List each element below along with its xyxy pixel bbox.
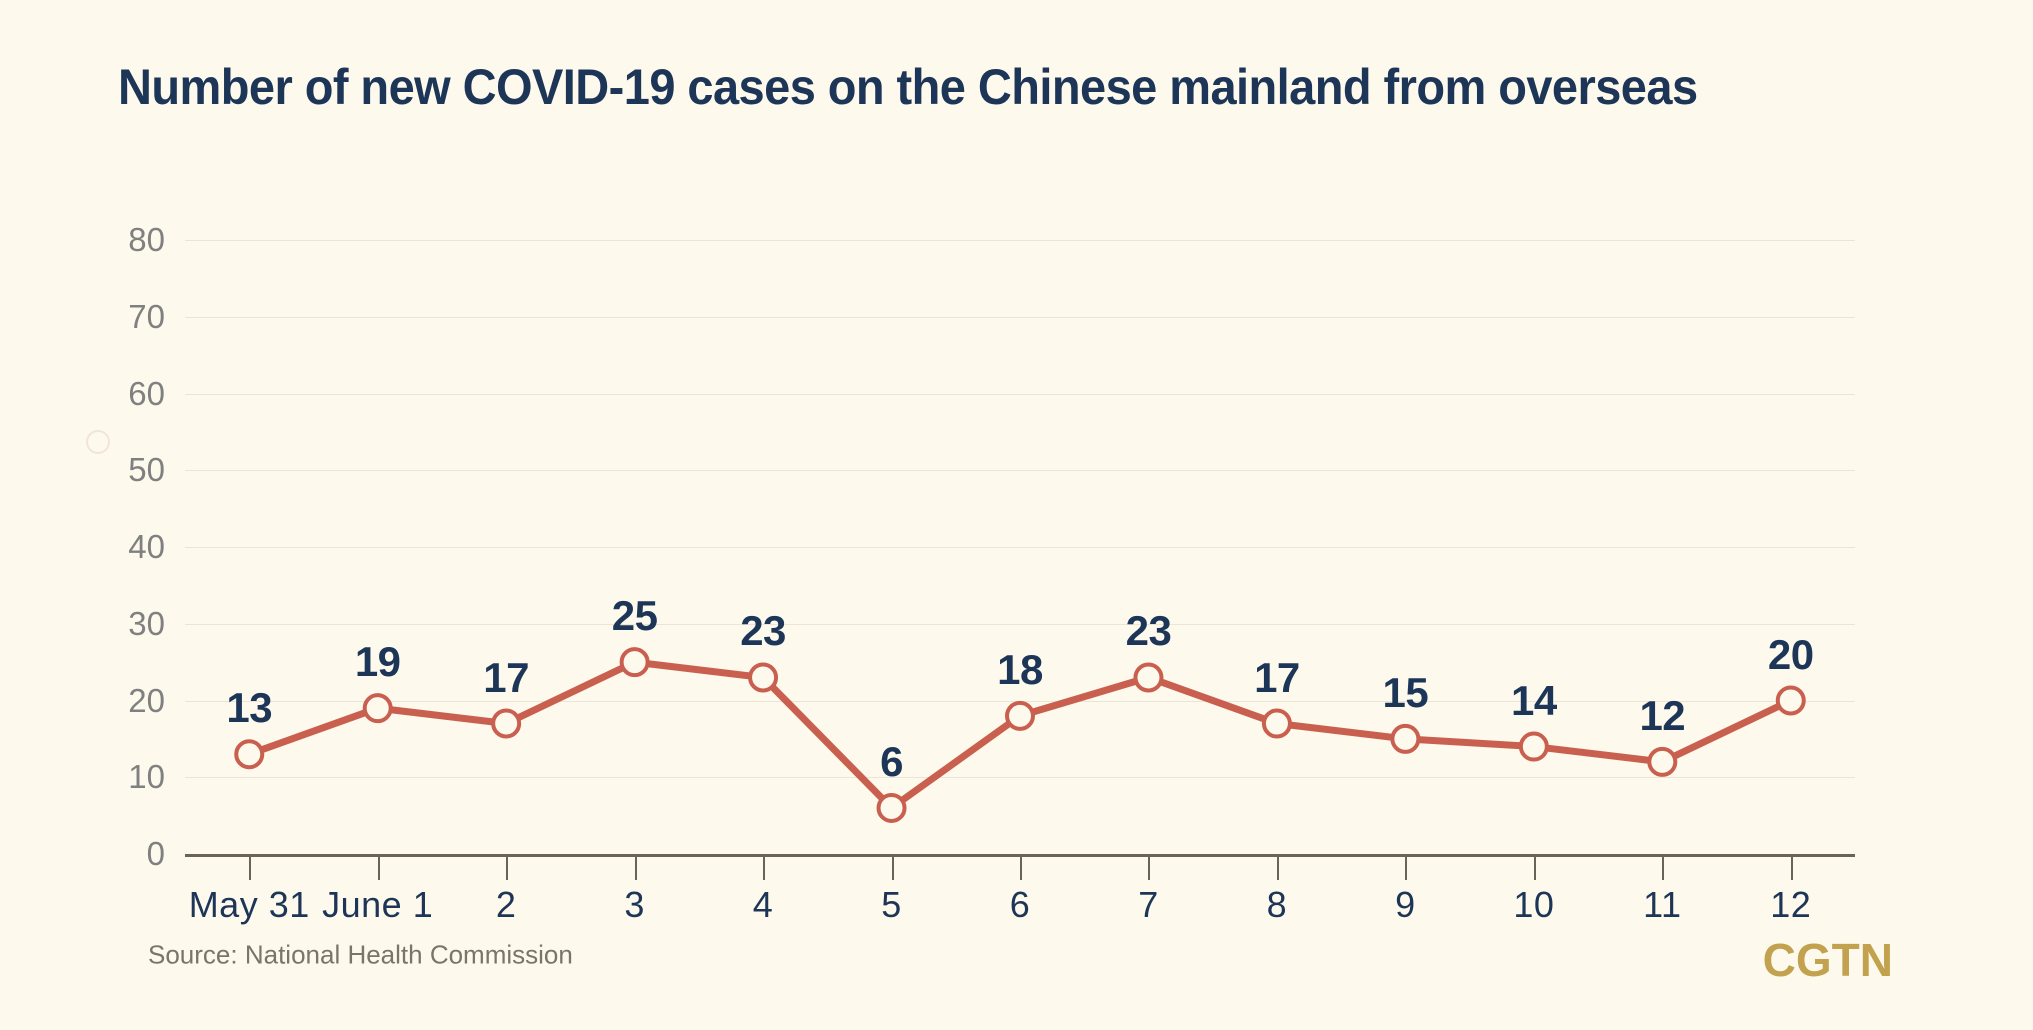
data-point-marker[interactable]: [1649, 749, 1675, 775]
y-axis-tick-label: 80: [128, 221, 165, 259]
x-axis-tick-label: 11: [1643, 884, 1681, 926]
x-axis-tick: [1277, 854, 1279, 880]
y-axis-tick-label: 40: [128, 528, 165, 566]
x-axis-tick-label: 5: [881, 884, 902, 926]
data-point-value-label: 15: [1383, 669, 1429, 717]
data-point-value-label: 20: [1768, 631, 1814, 679]
data-point-marker[interactable]: [365, 695, 391, 721]
x-axis-tick-label: 6: [1010, 884, 1031, 926]
y-axis-tick-label: 0: [147, 835, 165, 873]
data-point-value-label: 19: [355, 638, 401, 686]
x-axis-tick: [506, 854, 508, 880]
data-point-marker[interactable]: [1778, 688, 1804, 714]
cgtn-logo: CGTN: [1763, 933, 1893, 987]
x-axis-tick: [249, 854, 251, 880]
data-point-value-label: 23: [740, 607, 786, 655]
y-axis-tick-label: 70: [128, 298, 165, 336]
x-axis-tick: [1148, 854, 1150, 880]
data-point-value-label: 13: [226, 684, 272, 732]
data-point-value-label: 17: [483, 654, 529, 702]
x-axis-tick-label: June 1: [322, 884, 433, 926]
y-axis-tick-label: 30: [128, 605, 165, 643]
data-point-marker[interactable]: [493, 711, 519, 737]
x-axis-tick-label: 2: [496, 884, 517, 926]
x-axis-tick-label: 7: [1138, 884, 1159, 926]
data-point-marker[interactable]: [622, 649, 648, 675]
data-point-value-label: 25: [612, 592, 658, 640]
x-axis-tick-label: 12: [1770, 884, 1811, 926]
data-point-marker[interactable]: [1007, 703, 1033, 729]
data-point-marker[interactable]: [750, 664, 776, 690]
x-axis-tick-label: 3: [624, 884, 645, 926]
source-note: Source: National Health Commission: [148, 940, 573, 971]
x-axis-tick: [892, 854, 894, 880]
x-axis-tick-label: 10: [1513, 884, 1554, 926]
data-point-value-label: 12: [1639, 692, 1685, 740]
stray-circle-artifact: [86, 430, 110, 454]
x-axis-tick-label: 4: [753, 884, 774, 926]
data-point-marker[interactable]: [1264, 711, 1290, 737]
x-axis-tick: [1534, 854, 1536, 880]
data-point-marker[interactable]: [1392, 726, 1418, 752]
x-axis-tick: [1791, 854, 1793, 880]
data-point-marker[interactable]: [1521, 734, 1547, 760]
y-axis-tick-label: 50: [128, 451, 165, 489]
x-axis-tick-label: 8: [1267, 884, 1288, 926]
line-series: [185, 240, 1855, 854]
data-point-value-label: 6: [880, 738, 903, 786]
y-axis-tick-label: 20: [128, 682, 165, 720]
chart-root: Number of new COVID-19 cases on the Chin…: [0, 0, 2033, 1030]
x-axis-tick: [1020, 854, 1022, 880]
data-point-marker[interactable]: [236, 741, 262, 767]
x-axis-tick: [1405, 854, 1407, 880]
y-axis-tick-label: 10: [128, 758, 165, 796]
x-axis-tick-label: 9: [1395, 884, 1416, 926]
data-point-marker[interactable]: [879, 795, 905, 821]
x-axis-tick: [1662, 854, 1664, 880]
data-point-value-label: 18: [997, 646, 1043, 694]
data-point-marker[interactable]: [1135, 664, 1161, 690]
x-axis-tick: [378, 854, 380, 880]
y-axis-tick-label: 60: [128, 375, 165, 413]
page-title: Number of new COVID-19 cases on the Chin…: [118, 60, 1848, 115]
data-point-value-label: 17: [1254, 654, 1300, 702]
x-axis-tick: [763, 854, 765, 880]
x-axis-tick: [635, 854, 637, 880]
data-point-value-label: 14: [1511, 677, 1557, 725]
y-axis-labels: 01020304050607080: [0, 240, 175, 854]
x-axis-tick-label: May 31: [189, 884, 310, 926]
data-point-value-label: 23: [1126, 607, 1172, 655]
